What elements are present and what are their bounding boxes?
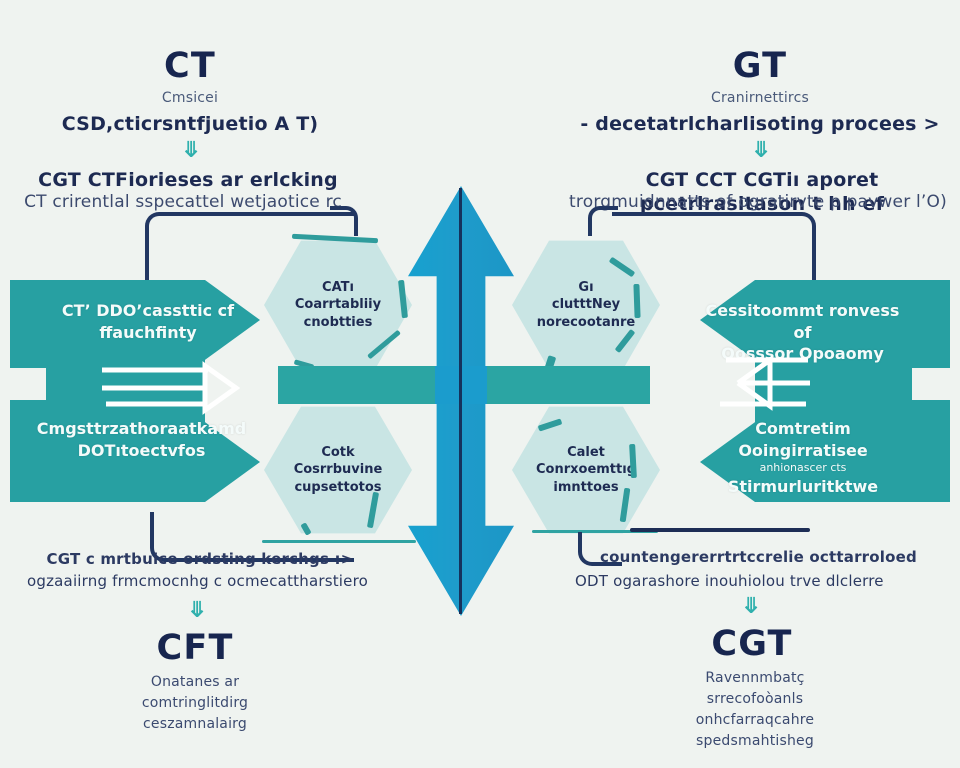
hex-line-1: Gı [578, 279, 593, 297]
top-right-acronym: GT [680, 44, 840, 89]
left-block-bottom-line-2: DOTıtoectvfos [34, 440, 249, 462]
diagram-canvas: CT Cmsicei CSD,cticrsntfjuetio A T) ⤋ CG… [0, 0, 960, 768]
left-block-notch [0, 368, 46, 400]
hex-line-3: imnttoes [553, 479, 618, 497]
top-left-headline: CSD,cticrsntfjuetio A T) [20, 112, 360, 136]
hex-line-3: norecootanre [537, 314, 635, 332]
rule-right-dark [630, 528, 810, 532]
hex-line-2: clutttNey [552, 296, 620, 314]
right-block-bottom-line-2: anhionascer cts [697, 461, 909, 476]
hex-line-2: Conrxoemttıg [536, 461, 636, 479]
top-right-headline: - decetatrlcharlisoting procees > [570, 112, 950, 136]
bottom-left-subtitle-line-3: ceszamnalairg [100, 714, 290, 735]
top-left-subtitle: Cmsicei [110, 90, 270, 108]
down-arrow-icon: ⤋ [752, 140, 770, 162]
bottom-left-subtitle: Onatanes ar comtringlitdirg ceszamnalair… [100, 672, 290, 735]
top-left-detail-rest: CT crirentlal sspecattel wetjaotice rc [8, 192, 358, 214]
bottom-right-subtitle-line-1: Ravennmbatç [660, 668, 850, 689]
top-left-acronym: CT [110, 44, 270, 89]
right-block-top-line-1: Cessitoommt ronvess of [700, 300, 905, 343]
bottom-right-subtitle-line-3: onhcfarraqcahre [660, 710, 850, 731]
top-right-detail-rest: trorgmuidnnatts of ogratirvte p pavwer l… [562, 192, 954, 214]
bottom-right-subtitle-line-4: spedsmahtisheg [660, 731, 850, 752]
right-block-bottom-line-1: Comtretim Ooingirratisee [697, 418, 909, 461]
bottom-right-detail-rest: ODT ogarashore inouhiolou trve dlclerre [575, 572, 950, 591]
hex-line-3: cnobtties [304, 314, 373, 332]
right-block-notch [912, 368, 960, 400]
hex-top-right[interactable]: Gı clutttNey norecootanre [512, 238, 660, 372]
bottom-right-subtitle-line-2: srrecofoòanls [660, 689, 850, 710]
hex-line-2: Cosrrbuvine [294, 461, 383, 479]
right-arrow-outline-icon [100, 360, 240, 418]
hex-line-3: cupsettotos [294, 479, 381, 497]
bottom-left-detail-bold: CGT c mrtbuice ordsting kerchgs :> [20, 550, 380, 569]
right-block-bottom-text: Comtretim Ooingirratisee anhionascer cts… [697, 418, 909, 498]
bottom-left-detail-rest: ogzaaiirng frmcmocnhg c ocmecattharstier… [10, 572, 385, 591]
top-left-detail-bold: CGT CTFiorieses ar erlcking [18, 168, 358, 192]
hex-line-1: Calet [567, 444, 605, 462]
bottom-right-detail-bold: countengererrtrtccrelie octtarroloed [600, 548, 950, 567]
left-block-bottom-text: Cmgsttrzathoraatkamd DOTıtoectvfos [34, 418, 249, 461]
down-arrow-icon: ⤋ [182, 140, 200, 162]
hex-bottom-right[interactable]: Calet Conrxoemttıg imnttoes [512, 404, 660, 536]
connector-top-left-elbow [330, 206, 358, 236]
hex-bottom-right-label: Calet Conrxoemttıg imnttoes [512, 404, 660, 536]
down-arrow-icon: ⤋ [742, 596, 760, 618]
connector-top-right-elbow [588, 206, 618, 236]
bottom-left-subtitle-line-2: comtringlitdirg [100, 693, 290, 714]
arrow-spine-over-bar [459, 366, 462, 404]
bottom-left-acronym: CFT [115, 626, 275, 671]
hex-line-1: Cotk [321, 444, 354, 462]
right-block-bottom-line-3: Stirmurluritktwe [697, 476, 909, 498]
hex-line-1: CATı [322, 279, 354, 297]
top-right-subtitle: Cranirnettircs [680, 90, 840, 108]
hex-dash [633, 284, 640, 318]
bottom-right-subtitle: Ravennmbatç srrecofoòanls onhcfarraqcahr… [660, 668, 850, 752]
hex-top-left[interactable]: CATı Coarrtabliiy cnobtties [264, 238, 412, 372]
left-arrow-outline-icon [692, 352, 842, 414]
left-block-top-text: CT’ DDO’cassttic cf ffauchfinty [48, 300, 248, 343]
left-block-bottom-line-1: Cmgsttrzathoraatkamd [34, 418, 249, 440]
hex-top-left-label: CATı Coarrtabliiy cnobtties [264, 238, 412, 372]
down-arrow-icon: ⤋ [188, 600, 206, 622]
hex-line-2: Coarrtabliiy [295, 296, 381, 314]
left-block-top-line-1: CT’ DDO’cassttic cf [48, 300, 248, 322]
bottom-left-subtitle-line-1: Onatanes ar [100, 672, 290, 693]
bottom-right-acronym: CGT [672, 622, 832, 667]
left-block-top-line-2: ffauchfinty [48, 322, 248, 344]
